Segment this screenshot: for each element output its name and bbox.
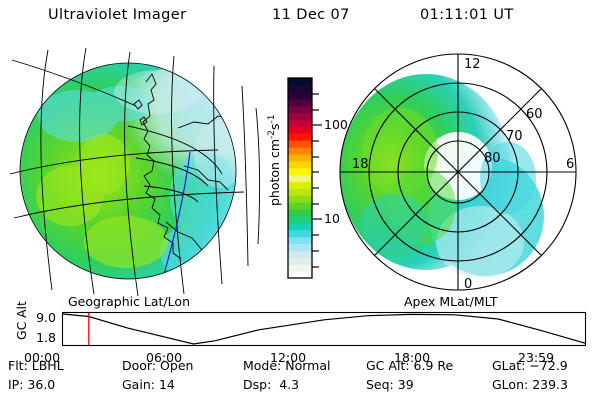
mlt-label-18: 18 xyxy=(352,157,369,172)
status-row-1: Flt: LBHL Door: Open Mode: Normal GC Alt… xyxy=(0,358,600,377)
colorbar-ticks xyxy=(312,94,322,267)
header: Ultraviolet Imager 11 Dec 07 01:11:01 UT xyxy=(0,4,600,28)
svg-text:photon cm-2s-1: photon cm-2s-1 xyxy=(267,115,282,206)
observation-time: 01:11:01 UT xyxy=(420,7,514,23)
orbit-altitude-plot xyxy=(62,312,586,346)
instrument-title: Ultraviolet Imager xyxy=(48,7,186,23)
status-door: Door: Open xyxy=(122,358,193,373)
mlt-label-0: 0 xyxy=(464,277,472,292)
status-glon: GLon: 239.3 xyxy=(492,377,568,392)
mlat-label-80: 80 xyxy=(484,151,501,166)
altitude-strip-chart: Geographic Lat/Lon Apex MLat/MLT GC Alt … xyxy=(0,296,600,348)
status-row-2: IP: 36.0 Gain: 14 Dsp: 4.3 Seq: 39 GLon:… xyxy=(0,377,600,396)
observation-date: 11 Dec 07 xyxy=(272,7,350,23)
cb-label-exp1: -2 xyxy=(267,130,277,139)
status-ip: IP: 36.0 xyxy=(8,377,55,392)
cb-label-main: photon cm xyxy=(267,139,282,206)
status-block: Flt: LBHL Door: Open Mode: Normal GC Alt… xyxy=(0,358,600,400)
status-mode: Mode: Normal xyxy=(243,358,331,373)
mlat-label-70: 70 xyxy=(506,129,523,144)
status-gain: Gain: 14 xyxy=(122,377,175,392)
colorbar-gradient xyxy=(288,78,312,279)
status-seq: Seq: 39 xyxy=(366,377,414,392)
polar-grid xyxy=(340,54,576,290)
mlt-label-12: 12 xyxy=(464,57,481,72)
aurora-oval xyxy=(340,74,544,278)
mlat-label-60: 60 xyxy=(526,107,543,122)
status-glat: GLat: −72.9 xyxy=(492,358,568,373)
ytick-high: 9.0 xyxy=(22,310,56,325)
geo-panel-title: Geographic Lat/Lon xyxy=(68,294,190,309)
ytick-low: 1.8 xyxy=(22,330,56,345)
colorbar-axis-label: photon cm-2s-1 xyxy=(267,115,282,206)
apex-panel-title: Apex MLat/MLT xyxy=(404,294,498,309)
geographic-image-panel xyxy=(8,46,266,296)
status-flt: Flt: LBHL xyxy=(8,358,64,373)
cb-label-exp2: -1 xyxy=(267,115,277,124)
status-dsp: Dsp: 4.3 xyxy=(243,377,299,392)
status-gcalt: GC Alt: 6.9 Re xyxy=(366,358,453,373)
colorbar-panel: photon cm-2s-1 100 10 xyxy=(266,56,328,292)
mlt-label-6: 6 xyxy=(566,157,574,172)
apex-polar-panel: 12 18 6 0 60 70 80 xyxy=(330,46,592,298)
uvi-screenshot: Ultraviolet Imager 11 Dec 07 01:11:01 UT xyxy=(0,0,600,400)
